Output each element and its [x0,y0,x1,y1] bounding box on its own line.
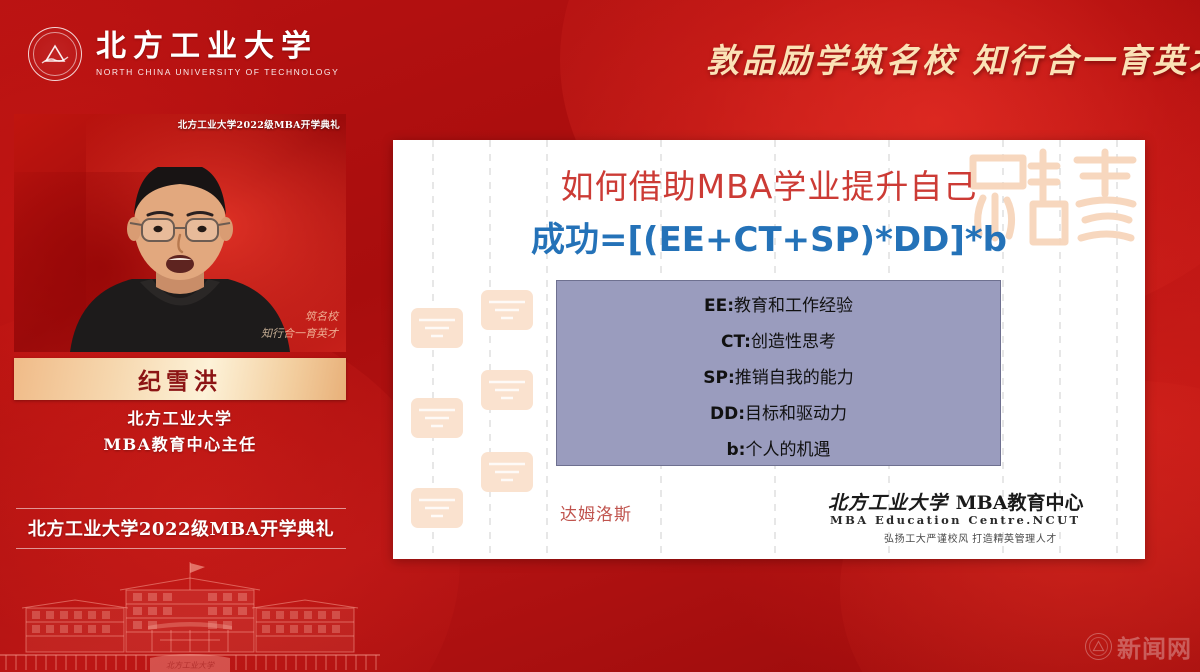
definition-row: b:个人的机遇 [557,432,1000,468]
definition-key: SP: [703,368,735,388]
event-banner: 北方工业大学2022级MBA开学典礼 [16,508,346,549]
mba-logo-university: 北方工业大学 [828,492,948,514]
definition-row: EE:教育和工作经验 [557,288,1000,324]
speaker-video-feed[interactable]: 筑名校知行合一育英才 北方工业大学2022级MBA开学典礼 [14,114,346,352]
brand: 北方工业大学 NORTH CHINA UNIVERSITY OF TECHNOL… [28,27,339,81]
news-seal-icon [1085,633,1112,660]
event-banner-text: 北方工业大学2022级MBA开学典礼 [28,519,334,540]
news-seal-glyph [1086,634,1111,659]
slide-title: 如何借助MBA学业提升自己 [393,160,1145,208]
campus-building-illustration: 北方工业大学 [0,560,380,672]
speaker-affiliation: 北方工业大学 MBA教育中心主任 [14,406,346,459]
video-calligraphy-overlay: 筑名校知行合一育英才 [261,309,338,342]
mba-logo-line-cn: 北方工业大学 MBA教育中心 [828,488,1083,515]
page-header: 北方工业大学 NORTH CHINA UNIVERSITY OF TECHNOL… [0,0,1200,108]
university-seal-icon [28,27,82,81]
campus-gate-sign: 北方工业大学 [166,661,215,670]
speaker-nameplate: 纪雪洪 [14,358,346,400]
mba-logo-en: MBA Education Centre.NCUT [830,513,1081,527]
speaker-title: MBA教育中心主任 [14,432,346,458]
mba-logo-center: MBA教育中心 [956,492,1084,514]
presentation-slide[interactable]: 如何借助MBA学业提升自己 成功=[(EE+CT+SP)*DD]*b EE:教育… [393,140,1145,559]
definition-row: SP:推销自我的能力 [557,360,1000,396]
definition-row: DD:目标和驱动力 [557,396,1000,432]
header-slogan: 敦品励学筑名校 知行合一育英才 [706,34,1176,82]
university-name-cn: 北方工业大学 [96,31,339,63]
definition-value: 目标和驱动力 [745,404,847,424]
definition-value: 教育和工作经验 [734,296,853,316]
definition-value: 推销自我的能力 [735,368,854,388]
news-watermark: 新闻网 [1085,629,1192,664]
definitions-box: EE:教育和工作经验 CT:创造性思考 SP:推销自我的能力 DD:目标和驱动力… [556,280,1001,466]
speaker-name: 纪雪洪 [138,362,222,396]
slide-source-attribution: 达姆洛斯 [560,500,632,525]
news-watermark-text: 新闻网 [1117,629,1192,664]
mba-logo-subtitle: 弘扬工大严谨校风 打造精英管理人才 [884,530,1057,545]
seal-mountain-glyph [40,44,70,66]
definition-key: EE: [704,296,734,316]
definition-value: 创造性思考 [751,332,836,352]
slide-formula: 成功=[(EE+CT+SP)*DD]*b [393,212,1145,261]
definition-key: b: [727,440,746,460]
definition-value: 个人的机遇 [745,440,830,460]
definition-key: CT: [721,332,751,352]
brand-text: 北方工业大学 NORTH CHINA UNIVERSITY OF TECHNOL… [96,31,339,77]
video-caption: 北方工业大学2022级MBA开学典礼 [178,117,340,131]
definition-row: CT:创造性思考 [557,324,1000,360]
university-name-en: NORTH CHINA UNIVERSITY OF TECHNOLOGY [96,67,339,77]
mba-center-logo: 北方工业大学 MBA教育中心 MBA Education Centre.NCUT… [828,488,1138,550]
speaker-organization: 北方工业大学 [14,406,346,432]
decorative-stamp-field [403,290,573,559]
definition-key: DD: [710,404,745,424]
